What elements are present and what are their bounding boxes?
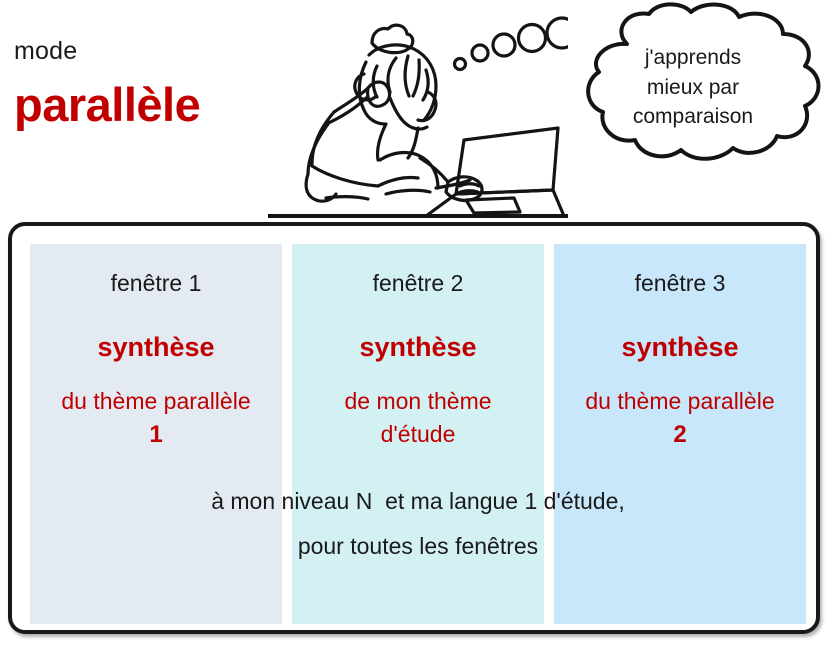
synthesis-label-3: synthèse (554, 331, 806, 363)
window-column-3[interactable]: fenêtre 3 synthèse du thème parallèle 2 (554, 244, 806, 624)
window-label-3: fenêtre 3 (554, 270, 806, 298)
synthesis-label-2: synthèse (292, 331, 544, 363)
person-at-laptop-thinking-icon (268, 0, 568, 222)
window-label-2: fenêtre 2 (292, 270, 544, 298)
window-description-2-line-1: de mon thème (292, 385, 544, 418)
thought-bubble: j'apprends mieux par comparaison (557, 2, 829, 167)
window-description-3-line-2: 2 (554, 418, 806, 452)
window-description-1-line-1: du thème parallèle (30, 385, 282, 418)
windows-panel: fenêtre 1 synthèse du thème parallèle 1 … (8, 222, 820, 634)
synthesis-label-1: synthèse (30, 331, 282, 363)
window-description-2-line-2: d'étude (292, 418, 544, 451)
windows-columns: fenêtre 1 synthèse du thème parallèle 1 … (30, 244, 806, 624)
window-description-1-line-2: 1 (30, 418, 282, 452)
window-label-1: fenêtre 1 (30, 270, 282, 298)
window-column-2[interactable]: fenêtre 2 synthèse de mon thème d'étude (292, 244, 544, 624)
window-column-1[interactable]: fenêtre 1 synthèse du thème parallèle 1 (30, 244, 282, 624)
slide-canvas: mode parallèle (0, 0, 829, 646)
window-description-3-line-1: du thème parallèle (554, 385, 806, 418)
